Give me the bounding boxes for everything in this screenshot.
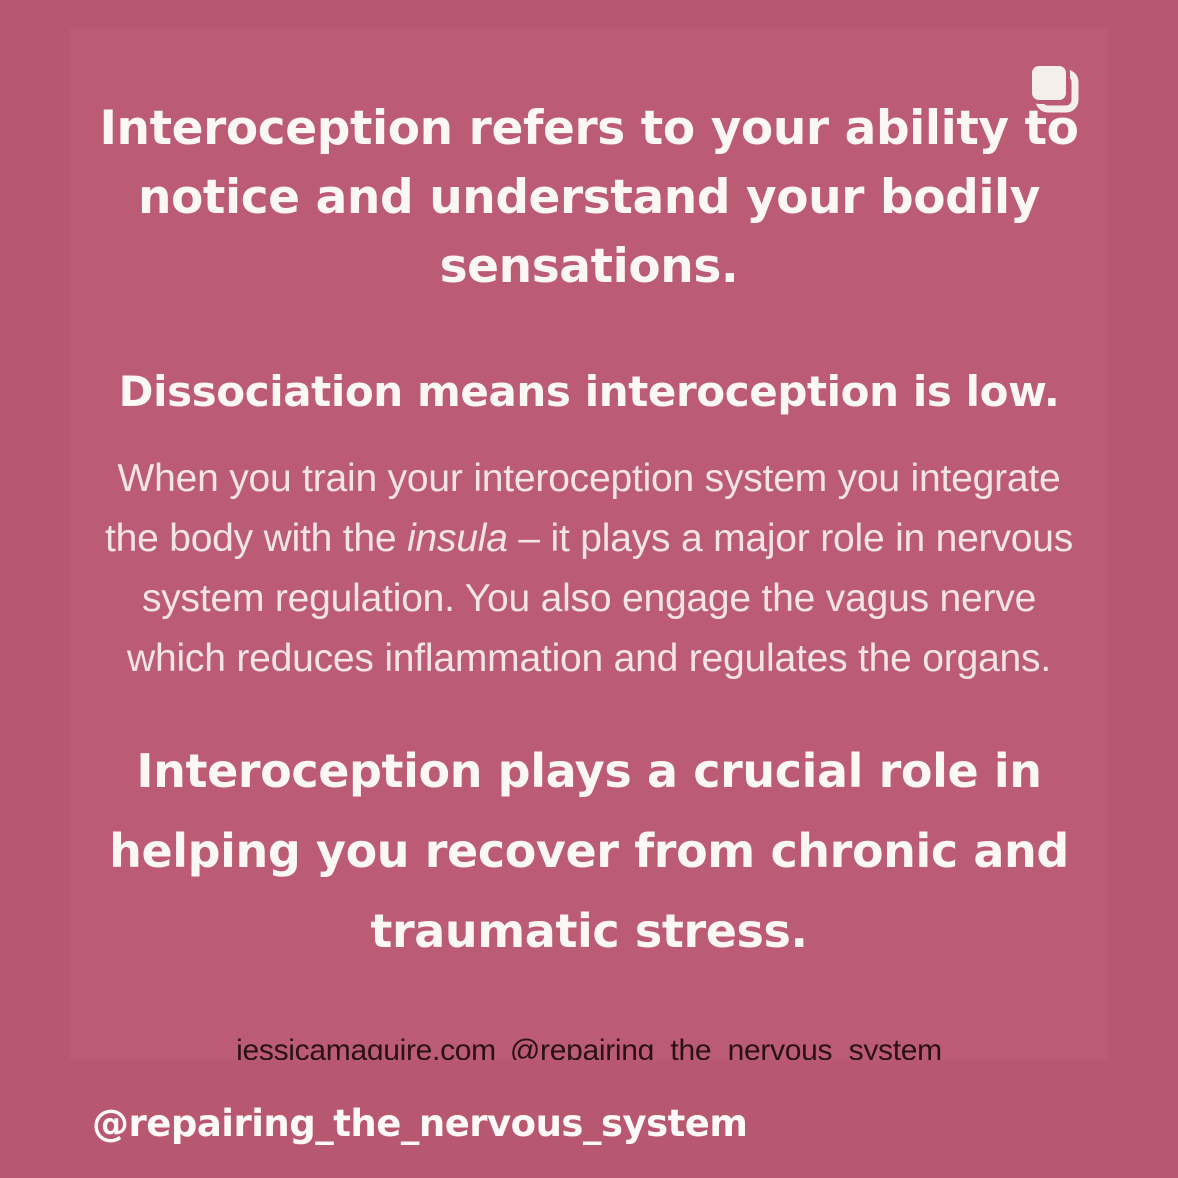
headline-primary: Interoception refers to your ability to … xyxy=(92,94,1086,301)
copy-duplicate-icon-glyph xyxy=(1022,56,1084,118)
body-paragraph: When you train your interoception system… xyxy=(92,449,1086,689)
credit-line: jessicamaguire.com@repairing_the_nervous… xyxy=(70,1034,1108,1060)
post-text-stack: Interoception refers to your ability to … xyxy=(70,28,1108,1060)
credit-handle: @repairing_the_nervous_system xyxy=(510,1034,942,1060)
caption-handle: @repairing_the_nervous_system xyxy=(92,1102,747,1146)
credit-website: jessicamaguire.com xyxy=(236,1034,496,1060)
headline-dissociation: Dissociation means interoception is low. xyxy=(92,363,1086,421)
headline-closing: Interoception plays a crucial role in he… xyxy=(92,731,1086,971)
body-emphasis-insula: insula xyxy=(407,517,508,560)
copy-duplicate-icon[interactable] xyxy=(1022,56,1084,118)
post-card: Interoception refers to your ability to … xyxy=(70,28,1108,1060)
